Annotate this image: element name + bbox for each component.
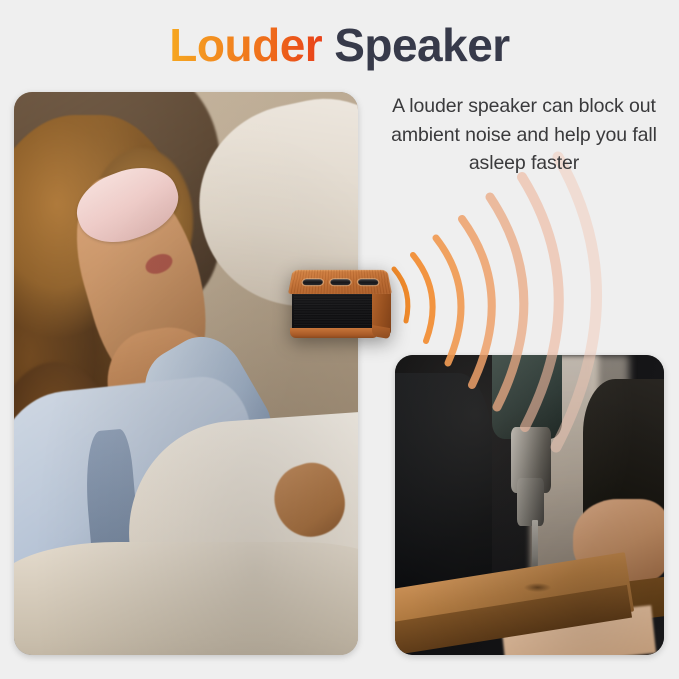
speaker-base (290, 328, 378, 338)
headline-plain-word: Speaker (334, 19, 510, 71)
sound-wave-arc-3 (436, 238, 461, 363)
sound-wave-arc-1 (394, 269, 408, 321)
bedsheet (14, 542, 358, 655)
speaker-top-panel (288, 270, 392, 294)
control-button-3[interactable] (358, 279, 379, 285)
sound-wave-arc-2 (413, 255, 433, 341)
photo-drilling-noise (395, 355, 664, 655)
control-button-2[interactable] (330, 279, 350, 285)
speaker-grille (292, 288, 374, 332)
description-text: A louder speaker can block out ambient n… (378, 92, 670, 178)
control-button-1[interactable] (302, 279, 323, 285)
wood-bluetooth-speaker (288, 262, 392, 342)
page-title: LouderSpeaker (0, 18, 679, 72)
speaker-mesh (294, 290, 372, 330)
headline-accent-word: Louder (169, 19, 322, 71)
drill-chuck-lower (517, 478, 544, 526)
sawdust (524, 583, 551, 592)
photo-sleeping-woman (14, 92, 358, 655)
marketing-banner: LouderSpeaker A louder speaker can block… (0, 0, 679, 679)
